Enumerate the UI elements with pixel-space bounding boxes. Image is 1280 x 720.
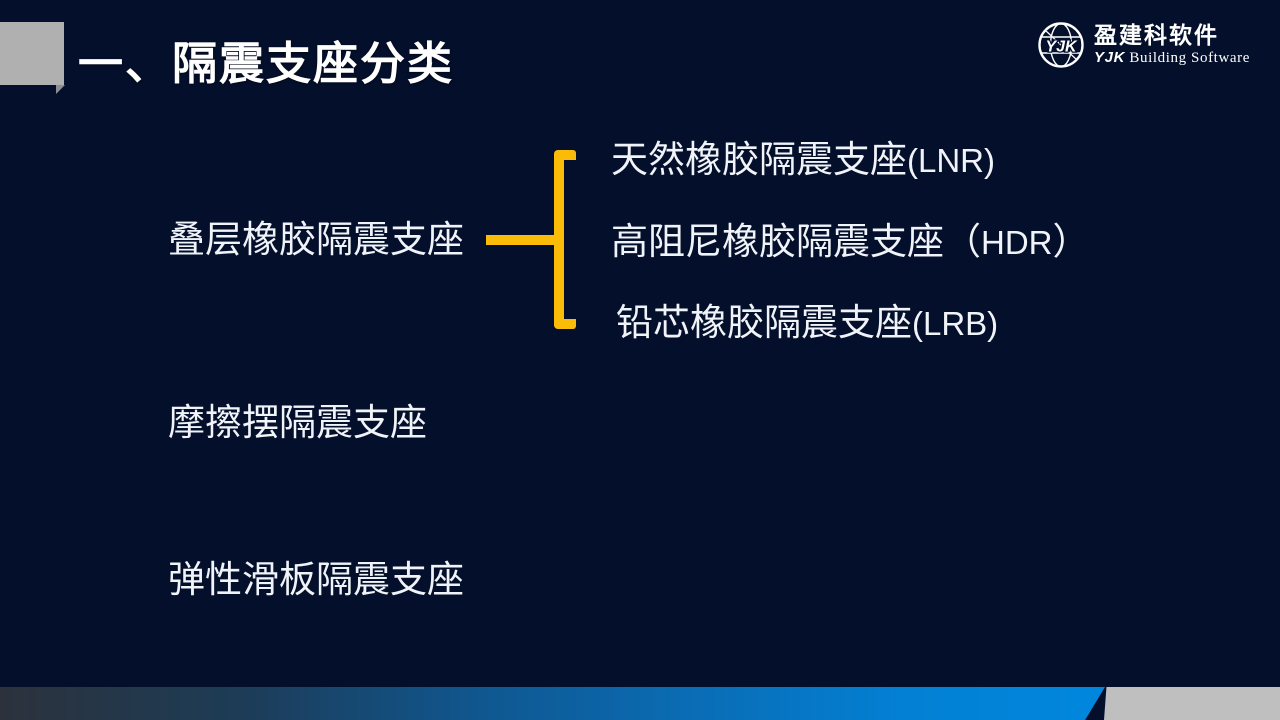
subcategory-lrb-label: 铅芯橡胶隔震支座	[616, 303, 912, 344]
slide-canvas: 一、隔震支座分类 YJK 盈建科软件 YJK Building Software…	[0, 0, 1280, 720]
brand-logo-text: 盈建科软件 YJK Building Software	[1094, 24, 1250, 66]
bottom-bar-gradient	[0, 687, 1105, 720]
subcategory-lead-rubber-bearing: 铅芯橡胶隔震支座(LRB)	[616, 305, 998, 342]
brace-vertical-bar	[554, 154, 564, 325]
subcategory-hdr-label: 高阻尼橡胶隔震支座（	[611, 222, 981, 263]
category-stacked-rubber-bearing: 叠层橡胶隔震支座	[168, 222, 464, 259]
page-title: 一、隔震支座分类	[78, 27, 454, 92]
brace-horizontal-stem	[486, 235, 564, 245]
category-elastic-sliding-bearing: 弹性滑板隔震支座	[168, 562, 464, 599]
brace-bottom-stub	[554, 319, 576, 329]
subcategory-lrb-code: (LRB)	[912, 305, 998, 342]
brand-abbrev: YJK	[1094, 49, 1125, 66]
subcategory-lnr-code: (LNR)	[907, 142, 995, 179]
category-friction-pendulum-bearing: 摩擦摆隔震支座	[168, 405, 427, 442]
subcategory-high-damping-rubber-bearing: 高阻尼橡胶隔震支座（HDR）	[611, 224, 1090, 261]
brand-name-cn: 盈建科软件	[1094, 24, 1250, 47]
brand-logo: YJK 盈建科软件 YJK Building Software	[1037, 21, 1250, 69]
title-accent-chip	[0, 22, 64, 85]
subcategory-natural-rubber-bearing: 天然橡胶隔震支座(LNR)	[611, 142, 995, 179]
subcategory-hdr-code: HDR	[981, 224, 1053, 261]
bottom-bar-tail	[1104, 687, 1280, 720]
title-accent-chip-tail	[56, 85, 65, 94]
brand-name-en-rest: Building Software	[1125, 50, 1250, 66]
subcategory-lnr-label: 天然橡胶隔震支座	[611, 140, 907, 181]
subcategory-hdr-label-tail: ）	[1053, 222, 1090, 263]
brand-name-en: YJK Building Software	[1094, 50, 1250, 66]
bottom-decor-bar	[0, 687, 1280, 720]
yjk-globe-icon: YJK	[1037, 21, 1085, 69]
svg-text:YJK: YJK	[1045, 39, 1078, 56]
